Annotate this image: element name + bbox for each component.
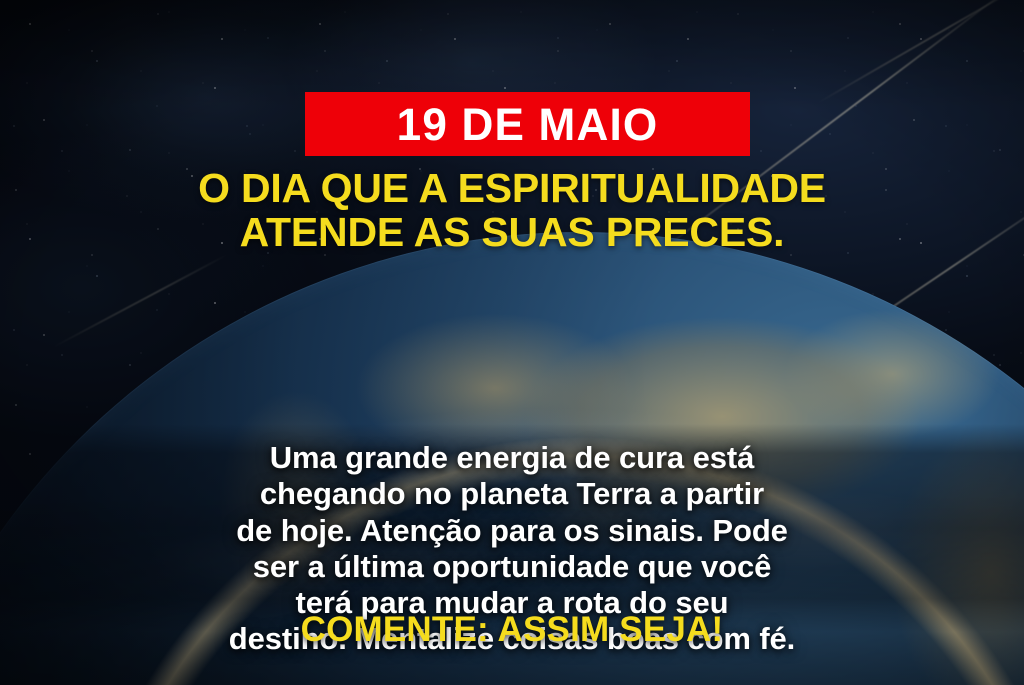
body-line-4: ser a última oportunidade que você <box>56 549 968 585</box>
page-title: O DIA QUE A ESPIRITUALIDADE ATENDE AS SU… <box>0 166 1024 255</box>
poster-image: 19 DE MAIO O DIA QUE A ESPIRITUALIDADE A… <box>0 0 1024 685</box>
body-line-2: chegando no planeta Terra a partir <box>56 476 968 512</box>
date-banner: 19 DE MAIO <box>305 92 750 156</box>
date-banner-label: 19 DE MAIO <box>397 102 659 147</box>
call-to-action-text: COMENTE: ASSIM SEJA! <box>0 612 1024 647</box>
headline-line-2: ATENDE AS SUAS PRECES. <box>40 210 984 254</box>
poster-content: 19 DE MAIO O DIA QUE A ESPIRITUALIDADE A… <box>0 0 1024 685</box>
body-line-1: Uma grande energia de cura está <box>56 440 968 476</box>
headline-line-1: O DIA QUE A ESPIRITUALIDADE <box>198 165 826 211</box>
body-line-3: de hoje. Atenção para os sinais. Pode <box>56 513 968 549</box>
